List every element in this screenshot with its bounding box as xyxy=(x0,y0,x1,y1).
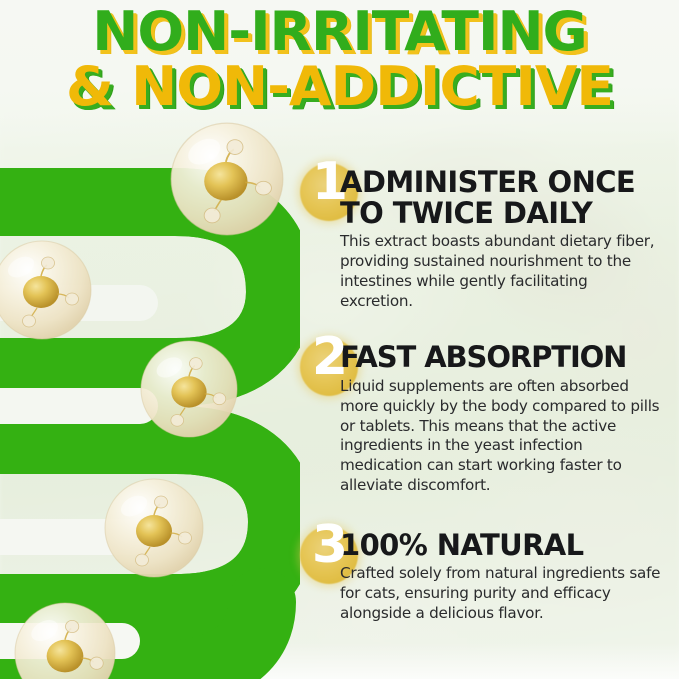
gold-serum-bubble xyxy=(104,478,204,578)
step-heading-2: FAST ABSORPTION xyxy=(340,330,668,373)
benefit-step-1: 1 ADMINISTER ONCE TO TWICE DAILY This ex… xyxy=(296,155,668,311)
headline-line-1: NON-IRRITATING xyxy=(0,6,679,59)
step-body-2: Liquid supplements are often absorbed mo… xyxy=(340,377,662,496)
gold-serum-bubble xyxy=(14,602,116,679)
step-number-1: 1 xyxy=(302,153,358,211)
step-body-3: Crafted solely from natural ingredients … xyxy=(340,564,662,623)
benefit-step-3: 3 100% NATURAL Crafted solely from natur… xyxy=(296,518,668,624)
step-body-1: This extract boasts abundant dietary fib… xyxy=(340,232,662,311)
poster-canvas: NON-IRRITATING & NON-ADDICTIVE 1 ADMINIS… xyxy=(0,0,679,679)
poster-headline: NON-IRRITATING & NON-ADDICTIVE xyxy=(0,6,679,114)
gold-serum-bubble xyxy=(170,122,284,236)
gold-serum-bubble xyxy=(0,240,92,340)
gold-serum-bubble xyxy=(140,340,238,438)
benefits-list: 1 ADMINISTER ONCE TO TWICE DAILY This ex… xyxy=(296,155,668,624)
headline-line-2: & NON-ADDICTIVE xyxy=(0,61,679,114)
benefit-step-2: 2 FAST ABSORPTION Liquid supplements are… xyxy=(296,330,668,495)
step-heading-1: ADMINISTER ONCE TO TWICE DAILY xyxy=(340,155,668,228)
step-number-2: 2 xyxy=(302,328,358,386)
step-heading-3: 100% NATURAL xyxy=(340,518,668,561)
step-number-3: 3 xyxy=(302,516,358,574)
